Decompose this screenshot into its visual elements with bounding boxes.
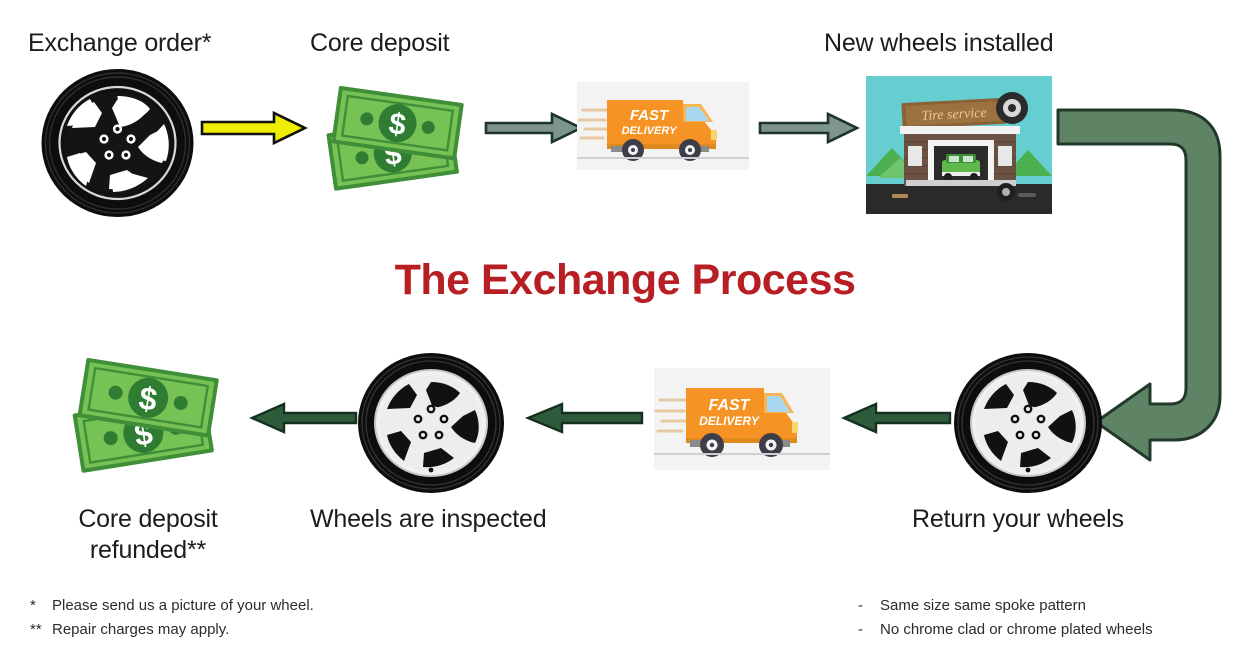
step-label-exchange-order: Exchange order* bbox=[28, 28, 211, 59]
truck-text-line1: FAST bbox=[630, 107, 670, 124]
step-label-return-your-wheels: Return your wheels bbox=[912, 504, 1124, 535]
footnote-left-2: **Repair charges may apply. bbox=[30, 621, 229, 638]
footnote-right-2: -No chrome clad or chrome plated wheels bbox=[858, 621, 1153, 638]
wheel-icon-inspected bbox=[357, 352, 505, 494]
exchange-process-diagram: Exchange order* Core deposit New wheels … bbox=[0, 0, 1250, 666]
truck-text-line2: DELIVERY bbox=[622, 125, 678, 137]
money-icon-refund: $ $ bbox=[58, 352, 238, 484]
footnote-text: No chrome clad or chrome plated wheels bbox=[880, 621, 1153, 638]
footnote-marker: - bbox=[858, 621, 880, 638]
footnote-text: Repair charges may apply. bbox=[52, 621, 229, 638]
step-label-wheels-are-inspected: Wheels are inspected bbox=[310, 504, 546, 535]
footnote-right-1: -Same size same spoke pattern bbox=[858, 597, 1086, 614]
step-label-new-wheels-installed: New wheels installed bbox=[824, 28, 1053, 59]
delivery-truck-icon-return: FAST DELIVERY bbox=[654, 368, 830, 470]
footnote-text: Same size same spoke pattern bbox=[880, 597, 1086, 614]
tire-service-shop-icon: Tire service bbox=[866, 76, 1052, 214]
arrow-deposit-to-truck bbox=[484, 110, 584, 146]
svg-text:FAST: FAST bbox=[709, 397, 751, 414]
page-title: The Exchange Process bbox=[0, 256, 1250, 305]
arrow-return-to-truck bbox=[840, 400, 952, 436]
step-label-core-deposit-refunded: Core deposit refunded** bbox=[48, 504, 248, 567]
arrow-truck-to-shop bbox=[758, 110, 860, 146]
footnote-text: Please send us a picture of your wheel. bbox=[52, 597, 314, 614]
footnote-marker: ** bbox=[30, 621, 52, 638]
svg-text:DELIVERY: DELIVERY bbox=[699, 414, 760, 428]
arrow-order-to-deposit bbox=[200, 110, 308, 146]
footnote-marker: * bbox=[30, 597, 52, 614]
footnote-left-1: *Please send us a picture of your wheel. bbox=[30, 597, 314, 614]
delivery-truck-icon: FAST DELIVERY bbox=[577, 82, 749, 170]
footnote-marker: - bbox=[858, 597, 880, 614]
step-label-core-deposit: Core deposit bbox=[310, 28, 449, 59]
wheel-icon-return bbox=[952, 352, 1104, 494]
money-icon: $ $ bbox=[310, 76, 480, 206]
arrow-inspection-to-refund bbox=[248, 400, 358, 436]
arrow-truck-to-inspection bbox=[524, 400, 644, 436]
wheel-icon bbox=[40, 68, 195, 218]
